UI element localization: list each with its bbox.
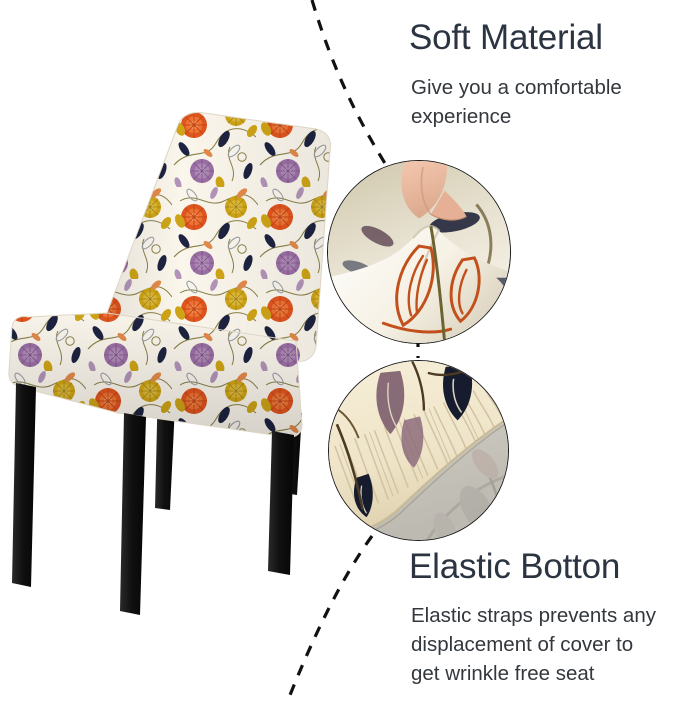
- feature-title-soft-material: Soft Material: [409, 18, 603, 58]
- feature-description-elastic-botton: Elastic straps prevents any displacement…: [411, 601, 661, 688]
- callout-elastic-botton: [328, 360, 509, 541]
- callout-soft-material: [327, 160, 511, 344]
- chair-product-photo: [0, 95, 340, 615]
- feature-description-soft-material: Give you a comfortable experience: [411, 73, 661, 131]
- feature-title-elastic-botton: Elastic Botton: [409, 547, 620, 587]
- product-feature-graphic: Soft Material Give you a comfortable exp…: [0, 0, 679, 708]
